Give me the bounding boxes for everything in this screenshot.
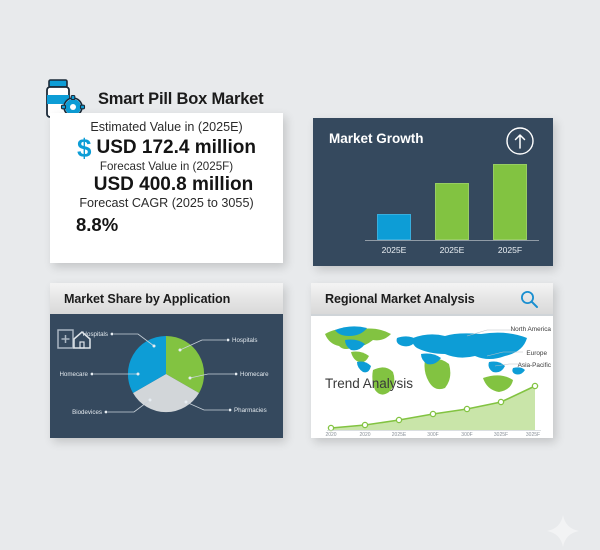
- market-share-header: Market Share by Application: [50, 283, 283, 314]
- trend-tick-1: 2020: [359, 432, 370, 436]
- bar-group-2: [482, 164, 538, 240]
- map-label-1: Europe: [526, 350, 547, 357]
- estimated-value-row: $ USD 172.4 million: [60, 135, 273, 161]
- growth-axis-line: [365, 240, 539, 241]
- map-label-2: Asia-Pacific: [518, 362, 551, 369]
- forecast-value: USD 400.8 million: [74, 174, 273, 196]
- bar-2: [493, 164, 527, 240]
- regional-analysis-body: North America Europe Asia-Pacific Trend …: [311, 316, 553, 438]
- bar-label-1: 2025E: [424, 245, 480, 257]
- market-share-title: Market Share by Application: [64, 292, 230, 306]
- infographic-canvas: Smart Pill Box Market Estimated Value in…: [0, 0, 600, 550]
- market-growth-card: Market Growth 2025E 2025E 2025F: [313, 118, 553, 266]
- key-metrics-card: Estimated Value in (2025E) $ USD 172.4 m…: [50, 113, 283, 263]
- trend-area-fill: [331, 386, 535, 430]
- trend-tick-4: 300F: [461, 432, 472, 436]
- market-share-body: Hospitals Homecare Biodevices Hospitals …: [50, 316, 283, 438]
- growth-bars: [365, 148, 539, 240]
- search-icon[interactable]: [519, 289, 539, 309]
- pie-callout-right-1: Homecare: [240, 371, 269, 378]
- trend-area-chart: 2020 2020 2025E 300F 300F 3025F 3025F: [321, 380, 545, 436]
- dollar-sign-icon: $: [77, 135, 91, 161]
- map-label-0: North America: [511, 326, 552, 333]
- trend-tick-0: 2020: [325, 432, 336, 436]
- bar-label-0: 2025E: [366, 245, 422, 257]
- estimated-value: USD 172.4 million: [97, 137, 256, 159]
- bar-group-1: [424, 183, 480, 240]
- growth-axis-labels: 2025E 2025E 2025F: [365, 245, 539, 257]
- bar-group-0: [366, 214, 422, 240]
- pie-callout-right-0: Hospitals: [232, 337, 257, 344]
- bar-0: [377, 214, 411, 240]
- page-title: Smart Pill Box Market: [98, 90, 263, 109]
- bar-1: [435, 183, 469, 240]
- pie-chart: Hospitals Homecare Biodevices Hospitals …: [50, 316, 283, 438]
- pie-callout-left-0: Hospitals: [83, 331, 108, 338]
- market-growth-title: Market Growth: [329, 131, 424, 146]
- regional-analysis-header: Regional Market Analysis: [311, 283, 553, 314]
- market-share-card: Market Share by Application: [50, 283, 283, 438]
- pie-callout-left-1: Homecare: [59, 371, 88, 378]
- cagr-label: Forecast CAGR (2025 to 3055): [60, 196, 273, 212]
- cagr-value: 8.8%: [76, 214, 273, 236]
- trend-tick-2: 2025E: [392, 432, 407, 436]
- regional-analysis-title: Regional Market Analysis: [325, 292, 475, 306]
- regional-analysis-card: Regional Market Analysis: [311, 283, 553, 438]
- trend-tick-6: 3025F: [526, 432, 540, 436]
- pie-callout-right-2: Pharmacies: [234, 407, 267, 414]
- pie-callout-left-2: Biodevices: [72, 409, 102, 416]
- trend-tick-5: 3025F: [494, 432, 508, 436]
- trend-tick-3: 300F: [427, 432, 438, 436]
- bar-label-2: 2025F: [482, 245, 538, 257]
- watermark-star-icon: [545, 513, 581, 549]
